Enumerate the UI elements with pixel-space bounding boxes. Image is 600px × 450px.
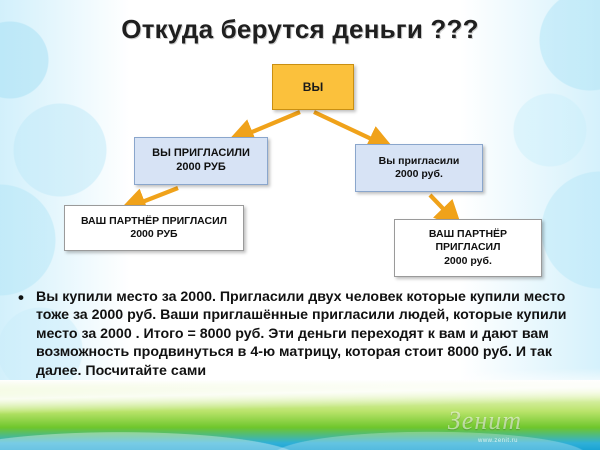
node-invited-right-label: Вы пригласили [379, 155, 460, 168]
node-you-label: ВЫ [303, 80, 323, 95]
node-invited-left-label: ВЫ ПРИГЛАСИЛИ [152, 147, 250, 161]
node-partner-right-label: ВАШ ПАРТНЁР ПРИГЛАСИЛ [395, 228, 541, 254]
bullet-marker: • [18, 289, 24, 306]
node-partner-left-label: ВАШ ПАРТНЁР ПРИГЛАСИЛ [81, 215, 227, 228]
diagram-node-invited-right: Вы пригласили 2000 руб. [355, 144, 483, 192]
node-partner-left-amount: 2000 РУБ [130, 228, 177, 241]
diagram-node-you: ВЫ [272, 64, 354, 110]
body-paragraph-block: • Вы купили место за 2000. Пригласили дв… [14, 288, 588, 380]
diagram-node-partner-right: ВАШ ПАРТНЁР ПРИГЛАСИЛ 2000 руб. [394, 219, 542, 277]
body-paragraph: Вы купили место за 2000. Пригласили двух… [36, 288, 588, 380]
node-invited-right-amount: 2000 руб. [395, 168, 443, 181]
slide-root: Откуда берутся деньги ??? ВЫ ВЫ ПРИГЛАСИ… [0, 0, 600, 450]
diagram-node-partner-left: ВАШ ПАРТНЁР ПРИГЛАСИЛ 2000 РУБ [64, 205, 244, 251]
node-invited-left-amount: 2000 РУБ [176, 161, 225, 175]
diagram-node-invited-left: ВЫ ПРИГЛАСИЛИ 2000 РУБ [134, 137, 268, 185]
node-partner-right-amount: 2000 руб. [444, 255, 492, 268]
watermark-url: www.zenit.ru [478, 438, 518, 444]
slide-title: Откуда берутся деньги ??? [0, 14, 600, 45]
watermark-logo: Зенит [448, 406, 522, 436]
